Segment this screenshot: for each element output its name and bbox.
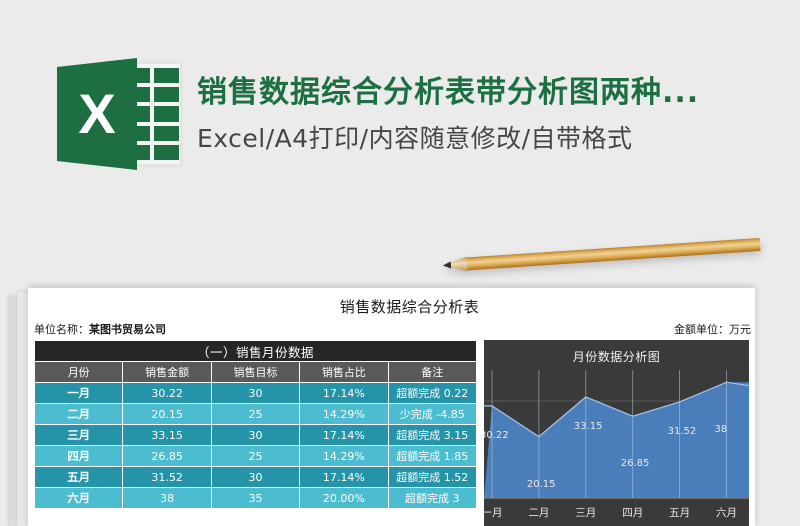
cell-note: 超额完成 1.52 — [388, 467, 476, 488]
chart-svg — [484, 370, 749, 498]
table-section-title-row: （一）销售月份数据 — [35, 341, 477, 362]
chart-plot-area — [484, 370, 749, 498]
table-row: 一月 30.22 30 17.14% 超额完成 0.22 — [35, 383, 477, 404]
cell-month: 六月 — [35, 488, 123, 509]
cell-note: 超额完成 1.85 — [388, 446, 476, 467]
chart-value-label: 31.52 — [668, 426, 697, 437]
col-header-share: 销售占比 — [300, 362, 388, 383]
table-row: 五月 31.52 30 17.14% 超额完成 1.52 — [35, 467, 477, 488]
pencil-lead — [443, 261, 451, 269]
pencil-icon — [442, 237, 760, 276]
cell-amount: 33.15 — [123, 425, 211, 446]
pencil-body — [464, 238, 760, 271]
col-header-note: 备注 — [388, 362, 476, 383]
chart-x-axis: 一月二月三月四月五月六月 — [484, 498, 749, 526]
cell-amount: 30.22 — [123, 383, 211, 404]
table-row: 六月 38 35 20.00% 超额完成 3 — [35, 488, 477, 509]
cell-note: 超额完成 3.15 — [388, 425, 476, 446]
chart-x-tick: 二月 — [528, 505, 549, 520]
cell-amount: 26.85 — [123, 446, 211, 467]
col-header-amount: 销售金额 — [123, 362, 211, 383]
chart-value-label: 38 — [715, 424, 728, 435]
cell-share: 14.29% — [300, 446, 388, 467]
cell-note: 少完成 -4.85 — [388, 404, 476, 425]
page-subtitle: Excel/A4打印/内容随意修改/自带格式 — [197, 124, 699, 154]
unit-name-row: 单位名称：某图书贸易公司 — [34, 321, 166, 337]
chart-x-tick: 六月 — [716, 505, 737, 520]
cell-month: 五月 — [35, 467, 123, 488]
chart-x-tick: 四月 — [622, 505, 643, 520]
table-section-title: （一）销售月份数据 — [35, 341, 477, 362]
cell-amount: 38 — [123, 488, 211, 509]
table-row: 二月 20.15 25 14.29% 少完成 -4.85 — [35, 404, 477, 425]
monthly-analysis-chart: 月份数据分析图 30.2220.1533.1526.8531.5238 一月二月… — [484, 340, 749, 526]
chart-value-label: 20.15 — [527, 479, 556, 490]
chart-value-label: 33.15 — [574, 421, 603, 432]
excel-logo-letter: X — [57, 58, 137, 170]
sales-table-wrapper: （一）销售月份数据 月份 销售金额 销售目标 销售占比 备注 一月 30.22 … — [34, 340, 477, 509]
cell-month: 二月 — [35, 404, 123, 425]
cell-target: 30 — [211, 425, 299, 446]
chart-title: 月份数据分析图 — [484, 348, 749, 365]
cell-target: 35 — [211, 488, 299, 509]
cell-target: 30 — [211, 383, 299, 404]
cell-month: 一月 — [35, 383, 123, 404]
cell-target: 30 — [211, 467, 299, 488]
cell-share: 17.14% — [300, 383, 388, 404]
cell-share: 17.14% — [300, 425, 388, 446]
cell-note: 超额完成 3 — [388, 488, 476, 509]
sales-table: （一）销售月份数据 月份 销售金额 销售目标 销售占比 备注 一月 30.22 … — [34, 340, 477, 509]
chart-x-tick: 一月 — [484, 505, 503, 520]
table-header-row: 月份 销售金额 销售目标 销售占比 备注 — [35, 362, 477, 383]
cell-target: 25 — [211, 404, 299, 425]
table-row: 三月 33.15 30 17.14% 超额完成 3.15 — [35, 425, 477, 446]
col-header-target: 销售目标 — [211, 362, 299, 383]
spreadsheet-preview: 销售数据综合分析表 单位名称：某图书贸易公司 金额单位：万元 （一）销售月份数据… — [28, 288, 755, 526]
chart-x-tick: 五月 — [669, 505, 690, 520]
hero-banner: X 销售数据综合分析表带分析图两种... Excel/A4打印/内容随意修改/自… — [0, 0, 800, 240]
cell-share: 14.29% — [300, 404, 388, 425]
cell-share: 20.00% — [300, 488, 388, 509]
chart-value-label: 30.22 — [484, 430, 509, 441]
chart-x-tick: 三月 — [575, 505, 596, 520]
hero-text-block: 销售数据综合分析表带分析图两种... Excel/A4打印/内容随意修改/自带格… — [197, 74, 699, 154]
cell-month: 四月 — [35, 446, 123, 467]
unit-name-label: 单位名称： — [34, 323, 89, 336]
cell-target: 25 — [211, 446, 299, 467]
sheet-title: 销售数据综合分析表 — [28, 296, 755, 317]
col-header-month: 月份 — [35, 362, 123, 383]
cell-note: 超额完成 0.22 — [388, 383, 476, 404]
page-title: 销售数据综合分析表带分析图两种... — [197, 74, 699, 112]
cell-amount: 20.15 — [123, 404, 211, 425]
hero-content: X 销售数据综合分析表带分析图两种... Excel/A4打印/内容随意修改/自… — [57, 58, 699, 170]
amount-unit-note: 金额单位：万元 — [674, 321, 751, 337]
excel-logo-icon: X — [57, 58, 183, 170]
unit-name-value: 某图书贸易公司 — [89, 323, 166, 336]
cell-month: 三月 — [35, 425, 123, 446]
cell-amount: 31.52 — [123, 467, 211, 488]
table-row: 四月 26.85 25 14.29% 超额完成 1.85 — [35, 446, 477, 467]
chart-value-label: 26.85 — [621, 458, 650, 469]
cell-share: 17.14% — [300, 467, 388, 488]
